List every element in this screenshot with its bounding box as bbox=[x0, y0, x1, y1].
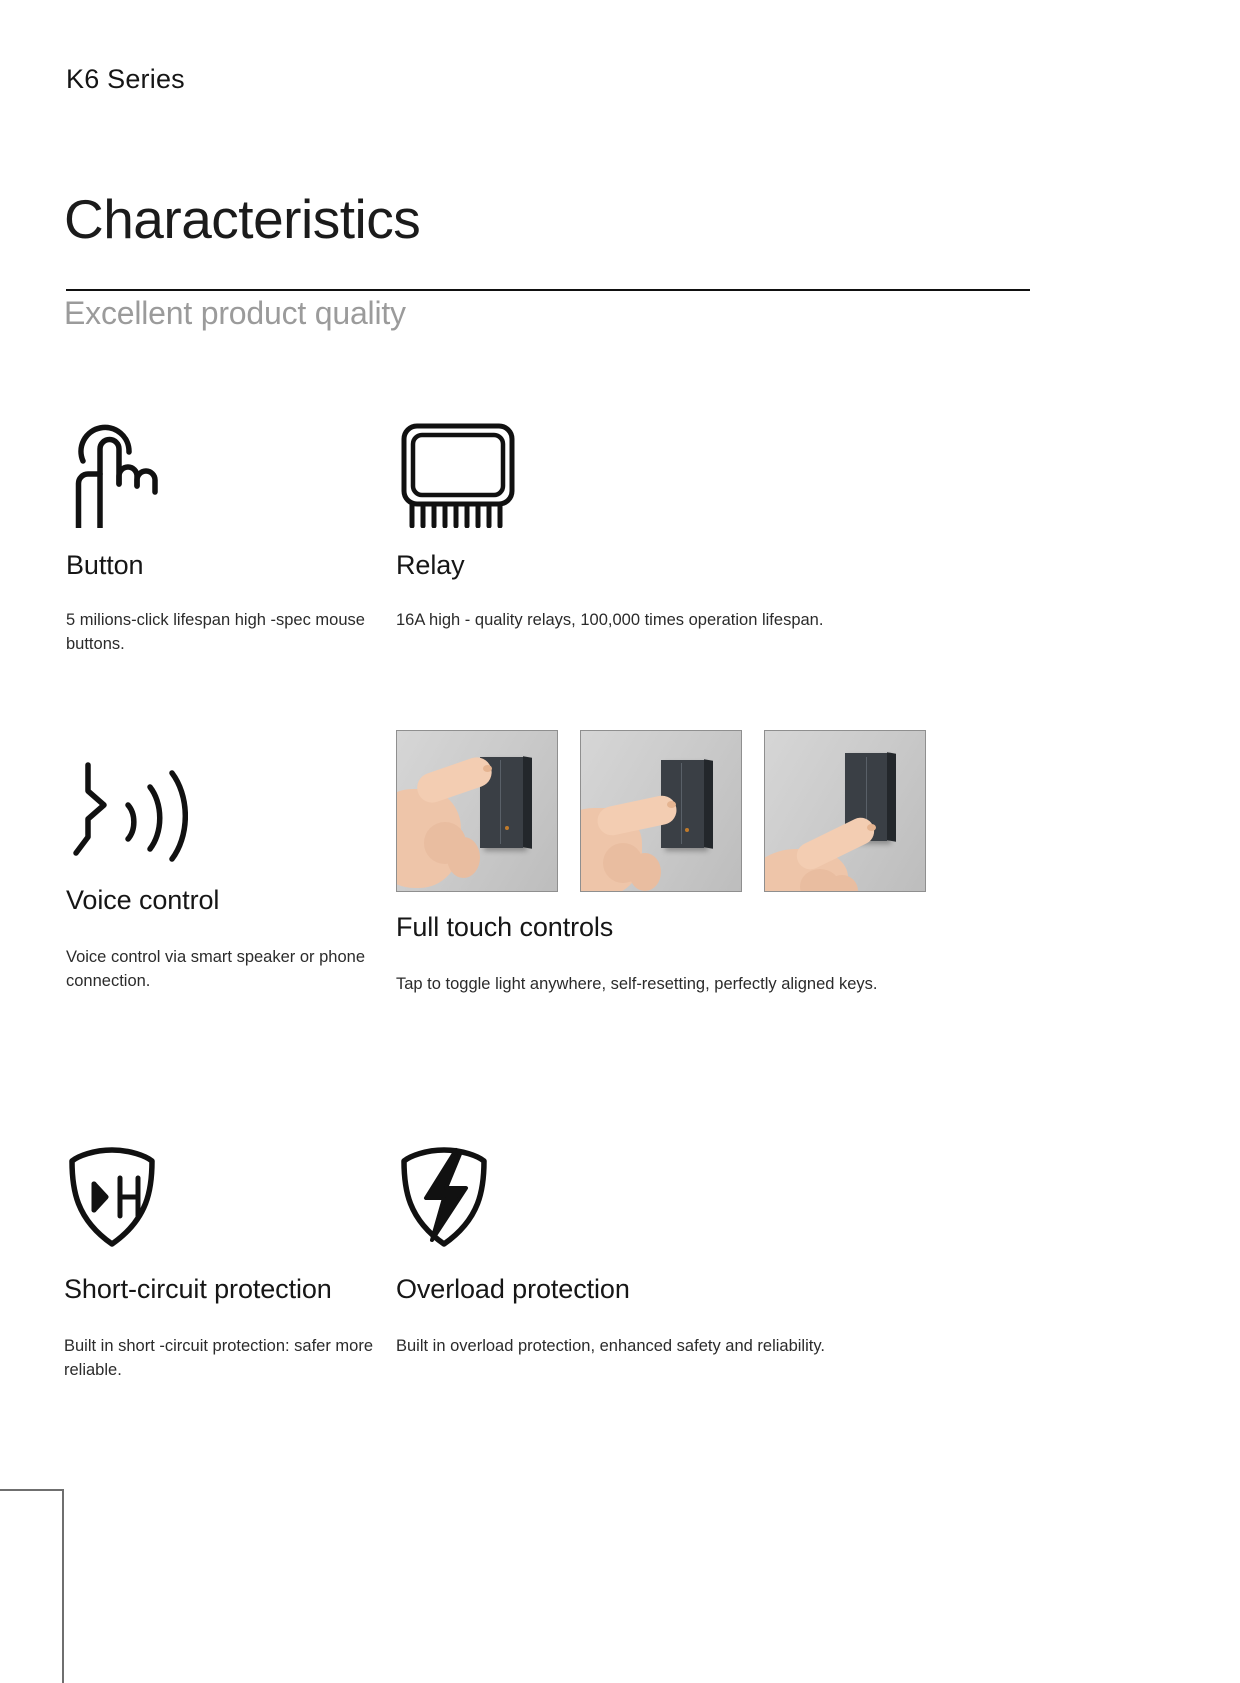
page-title: Characteristics bbox=[64, 192, 420, 247]
feature-description: Voice control via smart speaker or phone… bbox=[66, 946, 366, 994]
series-label: K6 Series bbox=[66, 64, 185, 95]
shield-bolt-icon bbox=[396, 1130, 866, 1250]
touch-photo-3 bbox=[764, 730, 926, 892]
feature-description: Built in short -circuit protection: safe… bbox=[64, 1335, 374, 1383]
feature-title: Relay bbox=[396, 550, 866, 581]
corner-mark-horizontal bbox=[0, 1489, 62, 1491]
page-subtitle: Excellent product quality bbox=[64, 295, 406, 332]
switch-edge bbox=[887, 753, 896, 843]
feature-title: Overload protection bbox=[396, 1274, 866, 1305]
title-divider bbox=[66, 289, 1030, 291]
ic-chip-relay-icon bbox=[396, 408, 866, 528]
hand-knuckle bbox=[629, 853, 661, 891]
corner-mark-vertical bbox=[62, 1489, 64, 1683]
shield-short-circuit-icon bbox=[64, 1130, 374, 1250]
feature-description: 5 milions-click lifespan high -spec mous… bbox=[66, 609, 366, 657]
switch-seam bbox=[500, 760, 501, 844]
feature-relay: Relay 16A high - quality relays, 100,000… bbox=[396, 408, 866, 633]
switch-seam bbox=[681, 763, 682, 844]
feature-description: Tap to toggle light anywhere, self-reset… bbox=[396, 973, 936, 997]
hand-tap-icon bbox=[66, 408, 366, 528]
touch-photo-1 bbox=[396, 730, 558, 892]
feature-full-touch-controls: Full touch controls Tap to toggle light … bbox=[396, 730, 936, 997]
voice-waves-icon bbox=[66, 745, 366, 865]
touch-photo-strip bbox=[396, 730, 936, 892]
switch-edge bbox=[523, 756, 532, 849]
page-root: K6 Series Characteristics Excellent prod… bbox=[0, 0, 1240, 1683]
touch-photo-2 bbox=[580, 730, 742, 892]
switch-edge bbox=[704, 759, 713, 849]
feature-button: Button 5 milions-click lifespan high -sp… bbox=[66, 408, 366, 657]
feature-voice-control: Voice control Voice control via smart sp… bbox=[66, 745, 366, 994]
feature-overload-protection: Overload protection Built in overload pr… bbox=[396, 1130, 866, 1359]
feature-title: Short-circuit protection bbox=[64, 1274, 374, 1305]
switch-indicator-dot bbox=[505, 826, 509, 830]
feature-description: 16A high - quality relays, 100,000 times… bbox=[396, 609, 866, 633]
feature-title: Button bbox=[66, 550, 366, 581]
feature-description: Built in overload protection, enhanced s… bbox=[396, 1335, 866, 1359]
feature-title: Voice control bbox=[66, 885, 366, 916]
feature-title: Full touch controls bbox=[396, 912, 936, 943]
hand-knuckle bbox=[447, 837, 481, 879]
feature-short-circuit-protection: Short-circuit protection Built in short … bbox=[64, 1130, 374, 1383]
switch-indicator-dot bbox=[685, 828, 689, 832]
fingernail bbox=[483, 765, 492, 772]
